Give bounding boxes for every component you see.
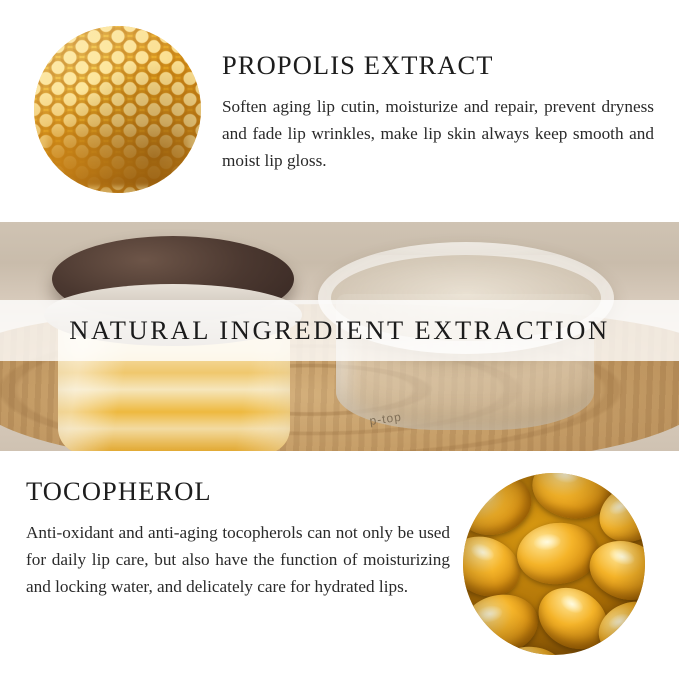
banner-section: p-top NATURAL INGREDIENT EXTRACTION [0,222,679,451]
capsules-vignette [463,473,645,655]
tocopherol-heading: TOCOPHEROL [26,476,450,507]
product-info-graphic: PROPOLIS EXTRACT Soften aging lip cutin,… [0,0,679,679]
propolis-heading: PROPOLIS EXTRACT [222,50,654,81]
propolis-section: PROPOLIS EXTRACT Soften aging lip cutin,… [0,0,679,222]
banner-title: NATURAL INGREDIENT EXTRACTION [69,315,610,346]
tocopherol-section: TOCOPHEROL Anti-oxidant and anti-aging t… [0,451,679,679]
honeycomb-shading [34,26,201,193]
propolis-body: Soften aging lip cutin, moisturize and r… [222,93,654,174]
tocopherol-text-block: TOCOPHEROL Anti-oxidant and anti-aging t… [26,476,450,600]
banner-title-strip: NATURAL INGREDIENT EXTRACTION [0,300,679,361]
propolis-text-block: PROPOLIS EXTRACT Soften aging lip cutin,… [222,50,654,174]
tocopherol-body: Anti-oxidant and anti-aging tocopherols … [26,519,450,600]
vitamin-e-capsules-photo [463,473,645,655]
honeycomb-photo [34,26,201,193]
